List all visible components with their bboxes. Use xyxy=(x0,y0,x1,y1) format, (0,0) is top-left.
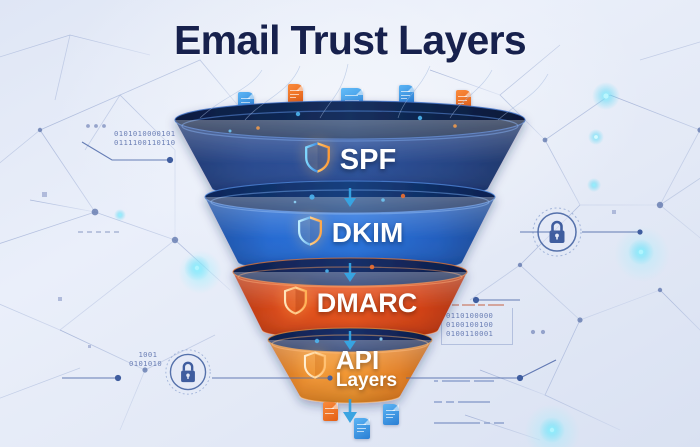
outgoing-documents-group xyxy=(0,0,700,447)
document-icon xyxy=(323,402,338,421)
document-icon xyxy=(383,404,399,425)
page-title: Email Trust Layers xyxy=(0,20,700,61)
document-icon xyxy=(354,418,370,439)
infographic-canvas: Email Trust Layers xyxy=(0,0,700,447)
